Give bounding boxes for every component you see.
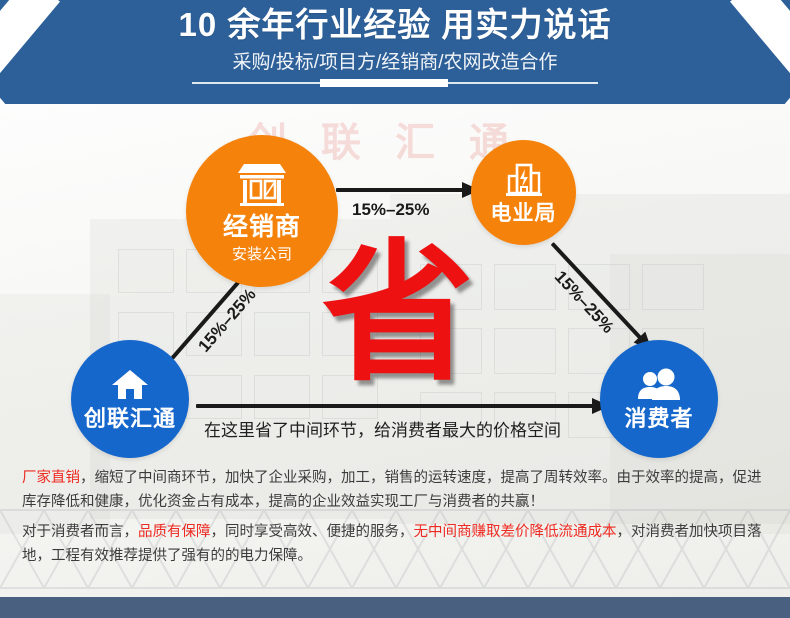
infographic-page: 10 余年行业经验 用实力说话 采购/投标/项目方/经销商/农网改造合作 xyxy=(0,0,790,618)
body-paragraph-2-part-1: 对于消费者而言， xyxy=(22,524,138,540)
node-consumer-label: 消费者 xyxy=(624,408,693,430)
header-subtitle: 采购/投标/项目方/经销商/农网改造合作 xyxy=(232,47,557,74)
body-highlight-quality: 品质有保障 xyxy=(138,524,211,540)
node-bureau[interactable]: 电业局 xyxy=(471,140,576,245)
node-bureau-label: 电业局 xyxy=(491,203,557,224)
body-highlight-manufacturer-direct: 厂家直销 xyxy=(22,470,80,486)
body-paragraph-1: 厂家直销，缩短了中间商环节，加快了企业采购，加工，销售的运转速度，提高了周转效率… xyxy=(22,466,770,514)
arrow-line xyxy=(196,404,596,408)
bg-window xyxy=(642,264,704,310)
body-highlight-no-middleman: 无中间商赚取差价降低流通成本 xyxy=(414,524,617,540)
bg-window xyxy=(494,264,556,310)
storefront-icon xyxy=(234,161,290,209)
bg-window xyxy=(118,249,174,293)
node-company[interactable]: 创联汇通 xyxy=(71,340,189,458)
people-icon xyxy=(637,368,681,402)
house-icon xyxy=(110,368,150,402)
node-dealer-label: 经销商 xyxy=(223,215,301,240)
arrow-dealer-to-bureau: 15%–25% xyxy=(336,180,486,202)
header-banner: 10 余年行业经验 用实力说话 采购/投标/项目方/经销商/农网改造合作 xyxy=(0,0,790,104)
node-dealer[interactable]: 经销商 安装公司 xyxy=(186,135,338,287)
header-divider xyxy=(192,81,598,85)
body-paragraph-2: 对于消费者而言，品质有保障，同时享受高效、便捷的服务，无中间商赚取差价降低流通成… xyxy=(22,520,770,568)
bg-window xyxy=(254,312,310,356)
center-emphasis-character: 省 xyxy=(322,238,474,390)
bg-window xyxy=(494,328,556,374)
node-consumer[interactable]: 消费者 xyxy=(600,340,718,458)
footer-bar xyxy=(0,597,790,618)
power-plant-icon xyxy=(504,162,544,198)
body-paragraph-2-part-2: ，同时享受高效、便捷的服务， xyxy=(211,524,414,540)
node-dealer-sublabel: 安装公司 xyxy=(232,247,292,262)
node-company-label: 创联汇通 xyxy=(84,408,176,430)
arrow-line xyxy=(336,188,466,192)
arrow-label: 15%–25% xyxy=(352,200,430,220)
header-divider-thick xyxy=(320,79,448,87)
background-watermark: 创联汇通 xyxy=(0,110,790,168)
arrow-label: 在这里省了中间环节，给消费者最大的价格空间 xyxy=(204,416,561,441)
header-title: 10 余年行业经验 用实力说话 xyxy=(178,7,611,44)
body-paragraph-1-rest: ，缩短了中间商环节，加快了企业采购，加工，销售的运转速度，提高了周转效率。由于效… xyxy=(22,470,762,510)
